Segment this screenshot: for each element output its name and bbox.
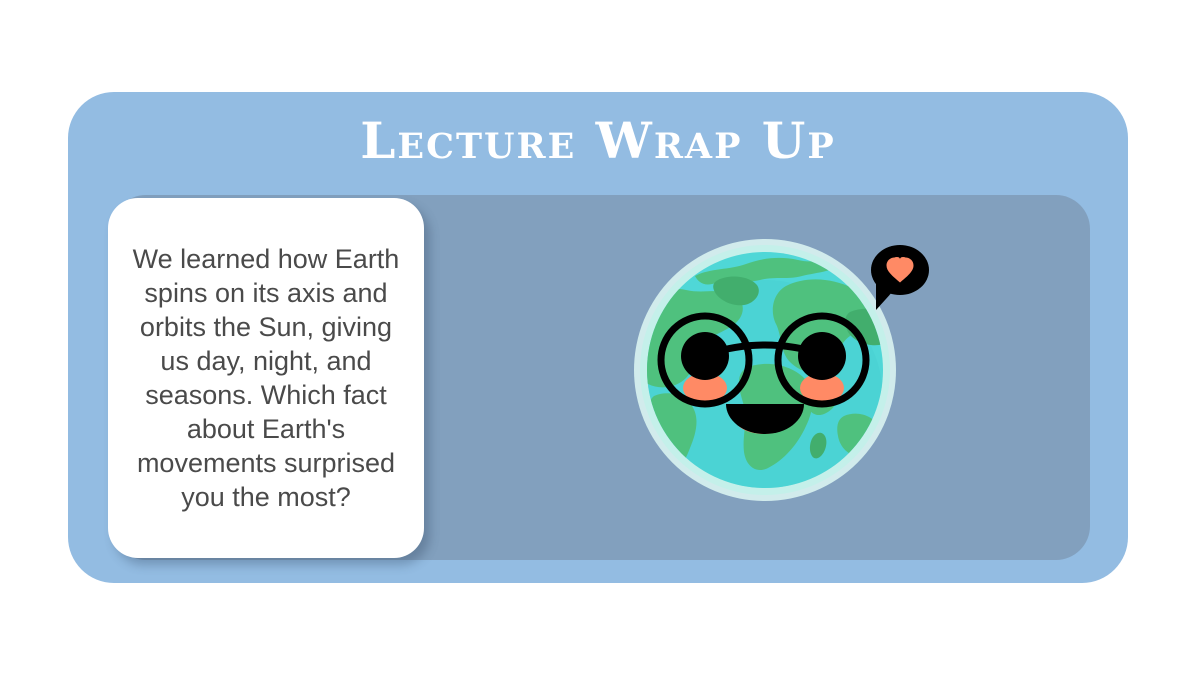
eye-right [798, 332, 846, 380]
eye-left [681, 332, 729, 380]
reflection-text-card: We learned how Earth spins on its axis a… [108, 198, 424, 558]
slide-canvas: Lecture Wrap Up We learned how Earth spi… [0, 0, 1200, 675]
page-title: Lecture Wrap Up [68, 112, 1128, 170]
earth-character-illustration [600, 228, 940, 518]
card-body-text: We learned how Earth spins on its axis a… [130, 242, 402, 514]
speech-bubble [871, 245, 929, 310]
